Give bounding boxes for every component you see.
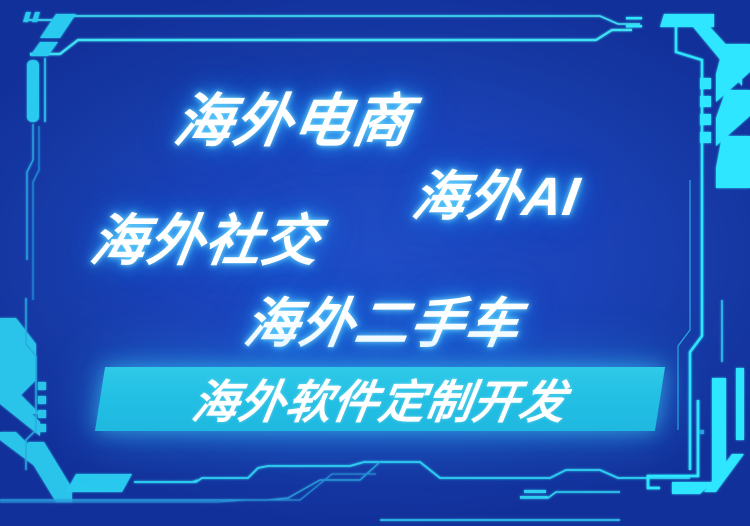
top-left-corner-bracket xyxy=(23,12,76,300)
headline-overseas-used-car: 海外二手车 xyxy=(240,279,528,358)
bottom-right-angle-brackets xyxy=(648,300,744,494)
right-frame-trace xyxy=(678,180,690,430)
bottom-border-lines xyxy=(0,462,690,520)
headline-overseas-ai: 海外AI xyxy=(408,152,587,231)
headline-overseas-ecommerce: 海外电商 xyxy=(169,74,419,158)
banner-label: 海外软件定制开发 xyxy=(95,367,665,431)
banner-canvas: 海外电商 海外AI 海外社交 海外二手车 海外软件定制开发 xyxy=(0,0,750,526)
software-development-banner: 海外软件定制开发 xyxy=(100,367,660,431)
headline-overseas-social: 海外社交 xyxy=(86,196,327,277)
bottom-left-chevrons xyxy=(0,298,72,502)
top-border-lines xyxy=(26,16,642,54)
